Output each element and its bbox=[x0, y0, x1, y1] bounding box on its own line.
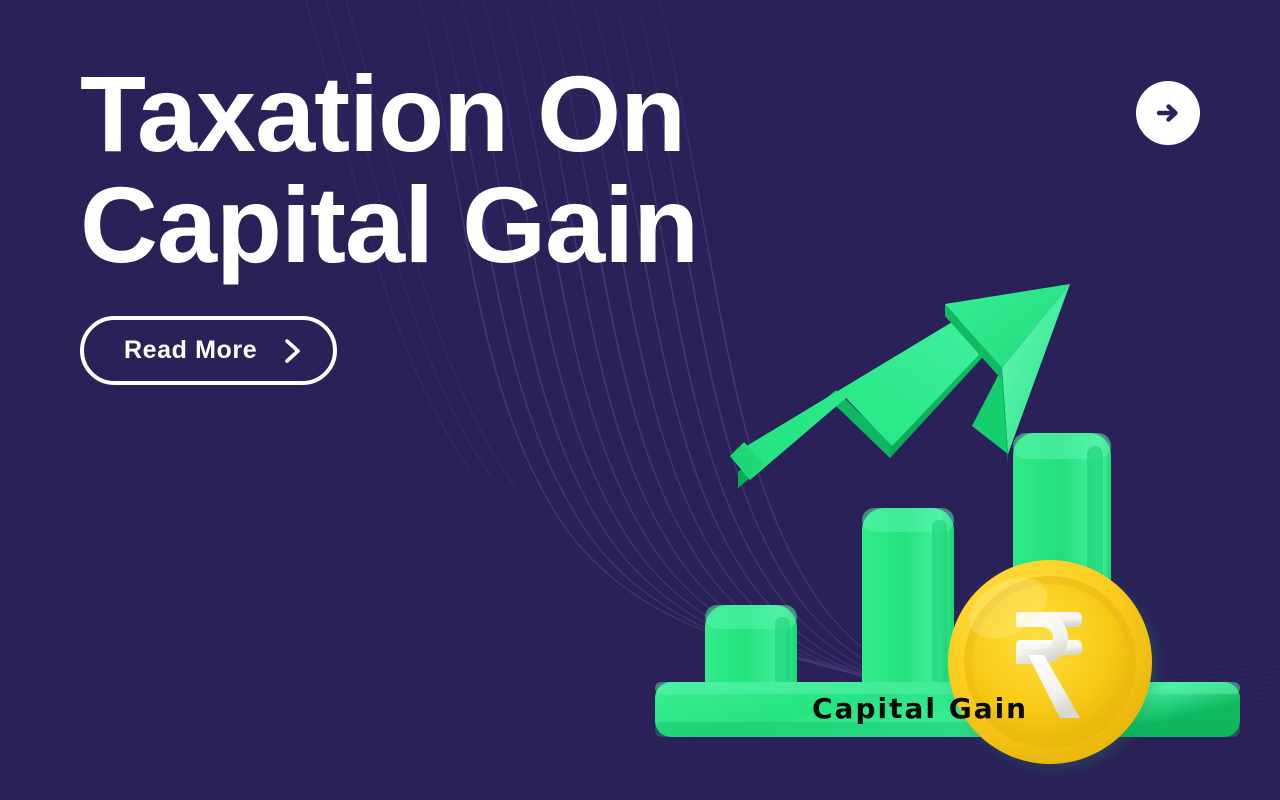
next-arrow-button[interactable] bbox=[1136, 81, 1200, 145]
rupee-coin bbox=[948, 560, 1153, 764]
banner-root: Taxation On Capital Gain Read More bbox=[0, 0, 1280, 800]
chart-base-label: Capital Gain bbox=[812, 692, 1028, 725]
read-more-button[interactable]: Read More bbox=[80, 316, 337, 385]
page-title: Taxation On Capital Gain bbox=[80, 58, 910, 280]
chevron-right-icon bbox=[283, 338, 303, 364]
arrow-right-icon bbox=[1151, 96, 1185, 130]
read-more-label: Read More bbox=[124, 336, 257, 365]
bar-3 bbox=[1013, 433, 1111, 733]
bar-1 bbox=[705, 605, 797, 735]
trending-up-arrow-icon bbox=[730, 284, 1070, 488]
